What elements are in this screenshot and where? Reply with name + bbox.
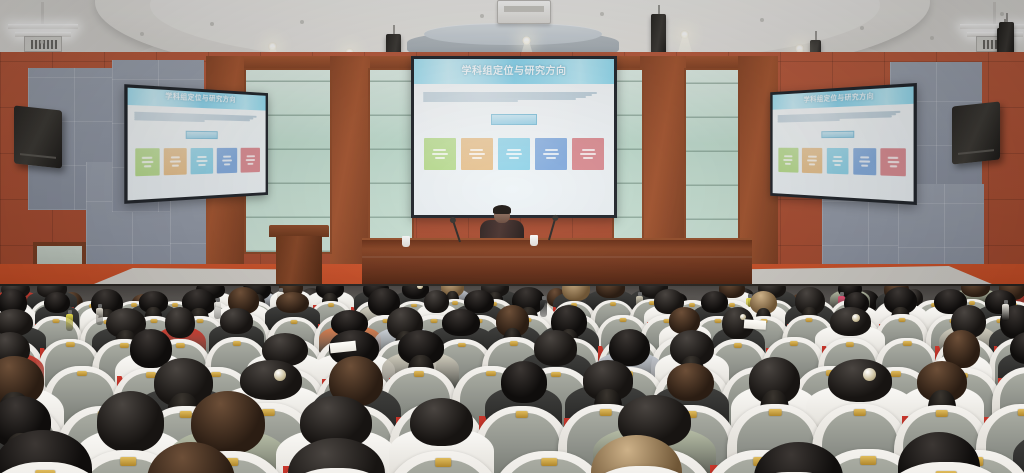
auditorium-photo: 学科组定位与研究方向 学科组定位与研究方向 [0,0,1024,473]
screen-frame [770,83,917,205]
acoustic-panel-mint [368,68,414,254]
light-bar [8,24,78,29]
ceiling [0,0,1024,60]
audience-member-head [596,286,625,298]
ceiling-fixture-dot [600,12,604,16]
chair-stud [935,410,947,417]
water-bottle [1002,304,1009,321]
chair-stud [176,343,184,348]
chair-stud [120,343,128,348]
lectern [272,225,326,287]
audience-member [749,357,800,404]
chair-stud [435,458,451,467]
chair-stud [790,341,798,346]
audience-member [220,308,253,334]
right-projection-screen: 学科组定位与研究方向 [770,83,917,205]
chair-stud [53,319,60,323]
water-bottle [540,300,547,317]
ceiling-fixture-dot [300,20,304,24]
audience-member-head [410,398,473,446]
ceiling-fixture-dot [1000,12,1004,16]
audience-member [44,292,70,313]
chair-stud [861,456,877,465]
wall-wood-column [640,56,686,266]
audience-member [442,309,480,336]
audience-member [828,359,892,402]
cup [402,236,410,247]
ceiling-speaker-icon [999,22,1014,56]
chair-stud [180,411,192,418]
audience-member [398,330,444,365]
audience-member [830,307,871,336]
audience-member-head [562,286,590,301]
audience-member [496,305,530,337]
chair-stud [846,342,854,347]
audience-member [795,287,825,315]
audience-member-head [828,359,892,402]
ceiling-fixture-dot [860,26,864,30]
left-projection-screen: 学科组定位与研究方向 [124,84,268,204]
chair-stud [610,302,616,306]
audience-member-head [44,292,70,313]
acoustic-panel-mint [684,68,740,256]
water-bottle [214,302,221,319]
chair-stud [516,411,528,418]
chair-stud [291,320,298,324]
light-stem [993,2,996,26]
chair-stud [714,319,721,323]
chair-stud [805,318,812,322]
chair-stud [328,303,334,307]
screen-frame [411,56,617,218]
audience-member [501,361,547,403]
main-projection-screen: 学科组定位与研究方向 [411,56,617,218]
presenter-hair [493,205,511,214]
chair-stud [486,371,496,377]
audience-member-head [220,308,253,334]
audience-member [410,398,473,446]
chair-stud [541,458,557,467]
chair-stud [452,301,458,305]
audience-member [670,330,714,366]
ceiling-fixture-dot [140,32,144,36]
ceiling-fixture-dot [760,18,764,22]
chair-stud [151,319,158,323]
chair-stud [66,342,74,347]
audience-member-head [147,442,236,473]
presenter [480,206,524,242]
audience-member-head [830,307,871,336]
audience-member-head [501,361,547,403]
chair-stud [551,372,561,378]
wall-wood-column [330,56,370,264]
water-bottle [66,314,73,331]
head-table [362,238,752,290]
audience-member [1010,332,1024,364]
chair-stud [769,409,781,416]
chair-stud [898,318,905,322]
light-stem [41,2,44,26]
wall-speaker-left-icon [14,105,62,168]
audience-member-head [754,442,843,473]
hair-clip [863,368,876,381]
chair-stud [734,343,742,348]
chair-stud [233,341,241,346]
chair-stud [197,319,204,323]
ceiling-fixture-dot [480,14,484,18]
chair-stud [431,319,438,323]
ceiling-light-cluster-right [960,2,1024,50]
chair-stud [509,341,517,346]
chair-stud [413,371,423,377]
ceiling-speaker-icon [651,14,666,54]
ceiling-projector-center-icon [497,0,551,24]
chair-stud [1018,409,1024,416]
audience-member [750,291,777,315]
audience-member-head [1010,332,1024,364]
audience-member [917,361,967,402]
chair-stud [599,409,611,416]
audience-member-head [442,309,480,336]
ceiling-fixture-dot [930,36,934,40]
lectern-body [276,236,322,288]
audience-member [596,286,625,298]
chair-stud [77,371,87,377]
ceiling-fixture-dot [210,22,214,26]
cup [530,235,538,246]
hair-clip [417,286,422,289]
audience-member [276,292,309,313]
audience-member-foreground [754,442,843,473]
chair-stud [619,318,626,322]
chair-stud [854,409,866,416]
audience-member-foreground [147,442,236,473]
audience-member [316,286,344,299]
wall-speaker-right-icon [952,101,1000,164]
projector-left-icon [24,36,62,52]
chair-stud [172,303,178,307]
chair-stud [121,457,137,466]
chair-stud [458,343,466,348]
screen-frame [124,84,268,204]
water-bottle [96,308,103,325]
chair-stud [689,303,695,307]
audience-member [884,287,917,314]
light-bar [960,24,1024,29]
audience-member-head [276,292,309,313]
notebook [744,319,767,330]
chair-stud [903,341,911,346]
ceiling-fixture-dot [40,40,44,44]
audience-member [562,286,590,301]
audience-area [0,286,1024,473]
